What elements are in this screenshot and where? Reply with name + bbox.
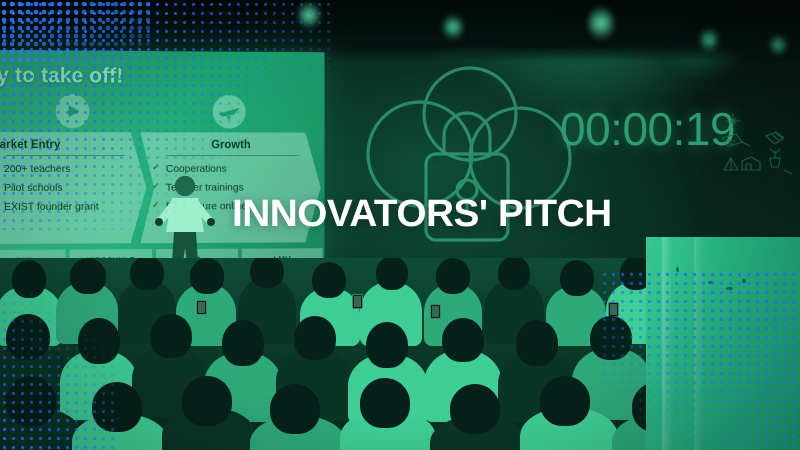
audience-member: [250, 258, 284, 288]
stage-light: [588, 6, 614, 40]
decorative-doodle-icons: [716, 108, 796, 190]
stage-light: [770, 34, 786, 56]
audience-member: [130, 258, 164, 290]
phone-screen: [352, 294, 363, 309]
hand-doodle-icon: [722, 134, 750, 147]
audience-member: [436, 258, 470, 294]
panel-speck: [676, 267, 679, 272]
panel-speck: [726, 287, 733, 290]
audience-member: [70, 258, 106, 294]
panel-speck: [742, 279, 746, 283]
audience-member: [590, 316, 632, 360]
phone-screen: [430, 304, 441, 319]
panel-speck: [708, 281, 713, 284]
audience-member: [270, 384, 320, 434]
stage-light: [443, 14, 463, 40]
house-doodle-icon: [742, 157, 760, 170]
stage-light: [298, 2, 320, 28]
stage-light: [700, 28, 718, 52]
star-burst-doodle-icon: [726, 114, 740, 128]
plant-doodle-icon: [770, 149, 780, 167]
countdown-timer: 00:00:19: [560, 106, 735, 152]
audience-member: [190, 258, 224, 294]
audience-member: [498, 258, 530, 290]
slide-column: Market Entry 200+ teachers Pilot schools…: [0, 132, 146, 244]
audience-member: [450, 384, 500, 434]
bullet-item: 200+ teachers: [0, 163, 146, 182]
column-bullets: 200+ teachers Pilot schools EXIST founde…: [0, 156, 146, 220]
audience-member: [150, 314, 192, 358]
audience-member: [442, 318, 484, 362]
slide-heading: dy to take off!: [0, 64, 123, 89]
audience-member: [312, 262, 346, 298]
plane-icon: [213, 95, 246, 129]
bullet-item: EXIST founder grant: [0, 201, 146, 220]
audience-member: [92, 382, 142, 432]
gift-doodle-icon: [766, 132, 784, 144]
audience-member: [366, 322, 408, 368]
audience-member: [560, 260, 594, 296]
audience-member: [516, 320, 558, 366]
audience-member: [222, 320, 264, 366]
audience-member: [376, 258, 408, 290]
audience-member: [6, 314, 50, 360]
panel-light-streak: [662, 237, 672, 450]
column-title: Growth: [140, 132, 320, 151]
panel-light-streak: [694, 237, 704, 450]
corner-accent-panel: [646, 237, 800, 450]
phone-screen: [608, 302, 619, 317]
bullet-item: Pilot schools: [0, 182, 146, 201]
tent-doodle-icon: [724, 158, 738, 170]
audience-member: [540, 376, 590, 426]
audience-member: [6, 376, 56, 426]
audience-member: [294, 316, 336, 360]
audience-member: [182, 376, 232, 426]
audience-member: [12, 260, 46, 298]
phone-screen: [196, 300, 207, 315]
audience-member: [78, 318, 120, 364]
page-title: INNOVATORS' PITCH: [232, 194, 612, 234]
audience-member: [360, 378, 410, 428]
play-chevron-icon: [56, 94, 90, 128]
column-title: Market Entry: [0, 132, 146, 151]
event-slide-stage: dy to take off! Market Entry 200+ teache…: [0, 0, 800, 450]
